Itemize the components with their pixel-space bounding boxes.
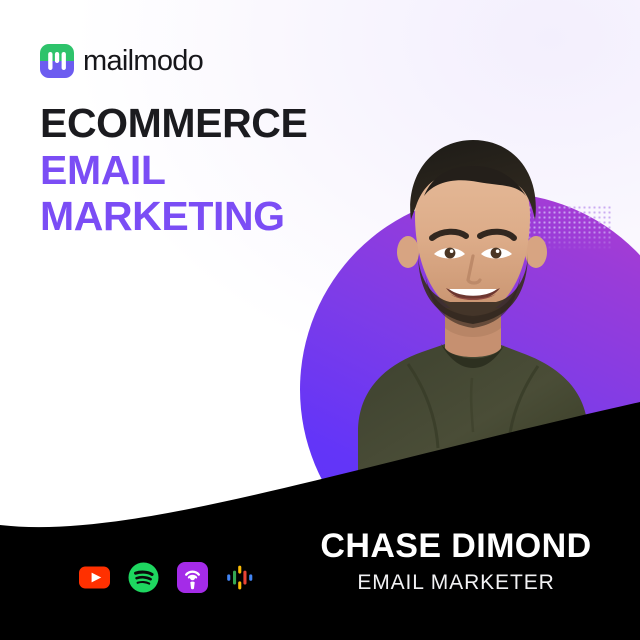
google-podcasts-icon[interactable] [225, 561, 258, 594]
headline-line-2: EMAIL [40, 150, 307, 191]
youtube-icon[interactable] [78, 561, 111, 594]
speaker-role: EMAIL MARKETER [296, 571, 616, 594]
headline-line-3: MARKETING [40, 196, 307, 237]
headline: ECOMMERCE EMAIL MARKETING [40, 103, 307, 237]
speaker-info: CHASE DIMOND EMAIL MARKETER [296, 528, 616, 594]
brand-logo[interactable]: mailmodo [40, 44, 203, 78]
speaker-name: CHASE DIMOND [296, 528, 616, 564]
apple-podcasts-icon[interactable] [176, 561, 209, 594]
headline-line-1: ECOMMERCE [40, 103, 307, 144]
black-diagonal-band [0, 380, 640, 640]
brand-wordmark: mailmodo [83, 47, 203, 76]
platform-icon-row [78, 561, 258, 594]
spotify-icon[interactable] [127, 561, 160, 594]
mailmodo-logo-icon [40, 44, 74, 78]
promo-poster: mailmodo ECOMMERCE EMAIL MARKETING CHASE… [0, 0, 640, 640]
